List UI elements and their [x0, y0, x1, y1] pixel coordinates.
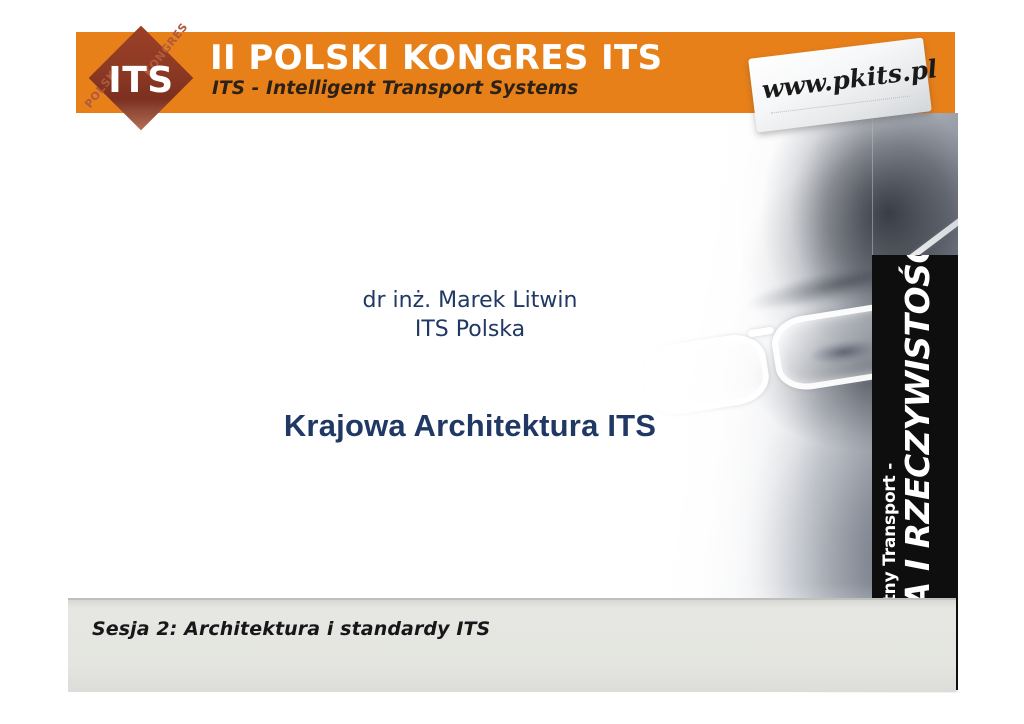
congress-title: II POLSKI KONGRES ITS [210, 38, 663, 78]
slide-main-title: Krajowa Architektura ITS [180, 408, 760, 444]
congress-subtitle: ITS - Intelligent Transport Systems [212, 78, 578, 99]
speaker-organization: ITS Polska [300, 315, 640, 344]
session-footer: Sesja 2: Architektura i standardy ITS [68, 598, 956, 692]
logo-its-text: ITS [104, 63, 178, 99]
presentation-slide: II POLSKI KONGRES ITS ITS - Intelligent … [0, 0, 1024, 724]
session-label: Sesja 2: Architektura i standardy ITS [92, 618, 490, 640]
its-congress-logo: POLSKI KONGRES ITS [76, 33, 204, 145]
speaker-block: dr inż. Marek Litwin ITS Polska [300, 286, 640, 344]
speaker-name: dr inż. Marek Litwin [300, 286, 640, 315]
